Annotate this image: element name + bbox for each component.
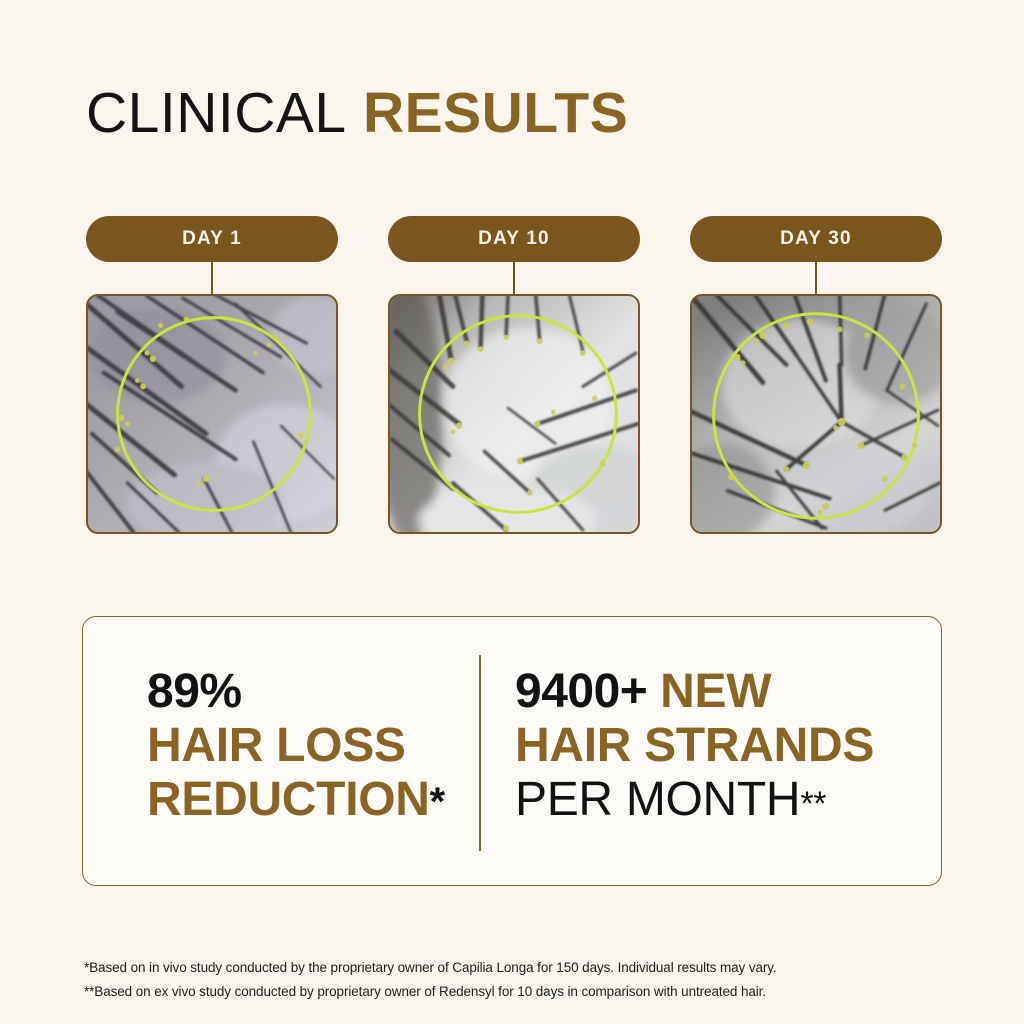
stat-value-9400: 9400+ [515,665,647,718]
footnote-line-1: *Based on in vivo study conducted by the… [84,956,954,980]
page-title: CLINICAL RESULTS [86,80,628,146]
stat-label-reduction: REDUCTION [147,773,430,826]
footnote-line-2: **Based on ex vivo study conducted by pr… [84,980,954,1004]
page-title-light: CLINICAL [86,81,347,145]
scalp-photo-day-1[interactable] [86,294,338,534]
timeline: DAY 1 [86,216,942,536]
day-badge-1[interactable]: DAY 1 [86,216,338,262]
stats-card: 89% HAIR LOSS REDUCTION* 9400+ NEW HAIR … [82,616,942,886]
stat-label-new: NEW [660,665,771,718]
footnote-marker-single: * [430,780,445,824]
day-badge-label-1: DAY 1 [182,228,242,250]
timeline-item-day-10: DAY 10 [388,216,640,262]
page-title-bold: RESULTS [363,81,628,145]
scalp-photo-day-30[interactable] [690,294,942,534]
day-badge-label-30: DAY 30 [780,228,852,250]
footnotes: *Based on in vivo study conducted by the… [84,956,954,1003]
stat-label-per-month: PER MONTH [515,773,800,826]
stat-hair-loss-reduction: 89% HAIR LOSS REDUCTION* [147,665,445,826]
stat-label-hair-loss: HAIR LOSS [147,719,406,772]
stat-new-hair-strands: 9400+ NEW HAIR STRANDS PER MONTH** [515,665,874,826]
timeline-item-day-30: DAY 30 [690,216,942,262]
badge-connector-line-10 [513,262,515,294]
day-badge-label-10: DAY 10 [478,228,550,250]
clinical-results-page: CLINICAL RESULTS DAY 1 [0,0,1024,1024]
badge-connector-line-30 [815,262,817,294]
day-badge-30[interactable]: DAY 30 [690,216,942,262]
timeline-item-day-1: DAY 1 [86,216,338,262]
day-badge-10[interactable]: DAY 10 [388,216,640,262]
footnote-marker-double: ** [800,785,826,823]
badge-connector-line-1 [211,262,213,294]
stat-value-89: 89% [147,665,242,718]
stats-divider [479,655,481,851]
scalp-photo-day-10[interactable] [388,294,640,534]
stat-label-hair-strands: HAIR STRANDS [515,719,874,772]
